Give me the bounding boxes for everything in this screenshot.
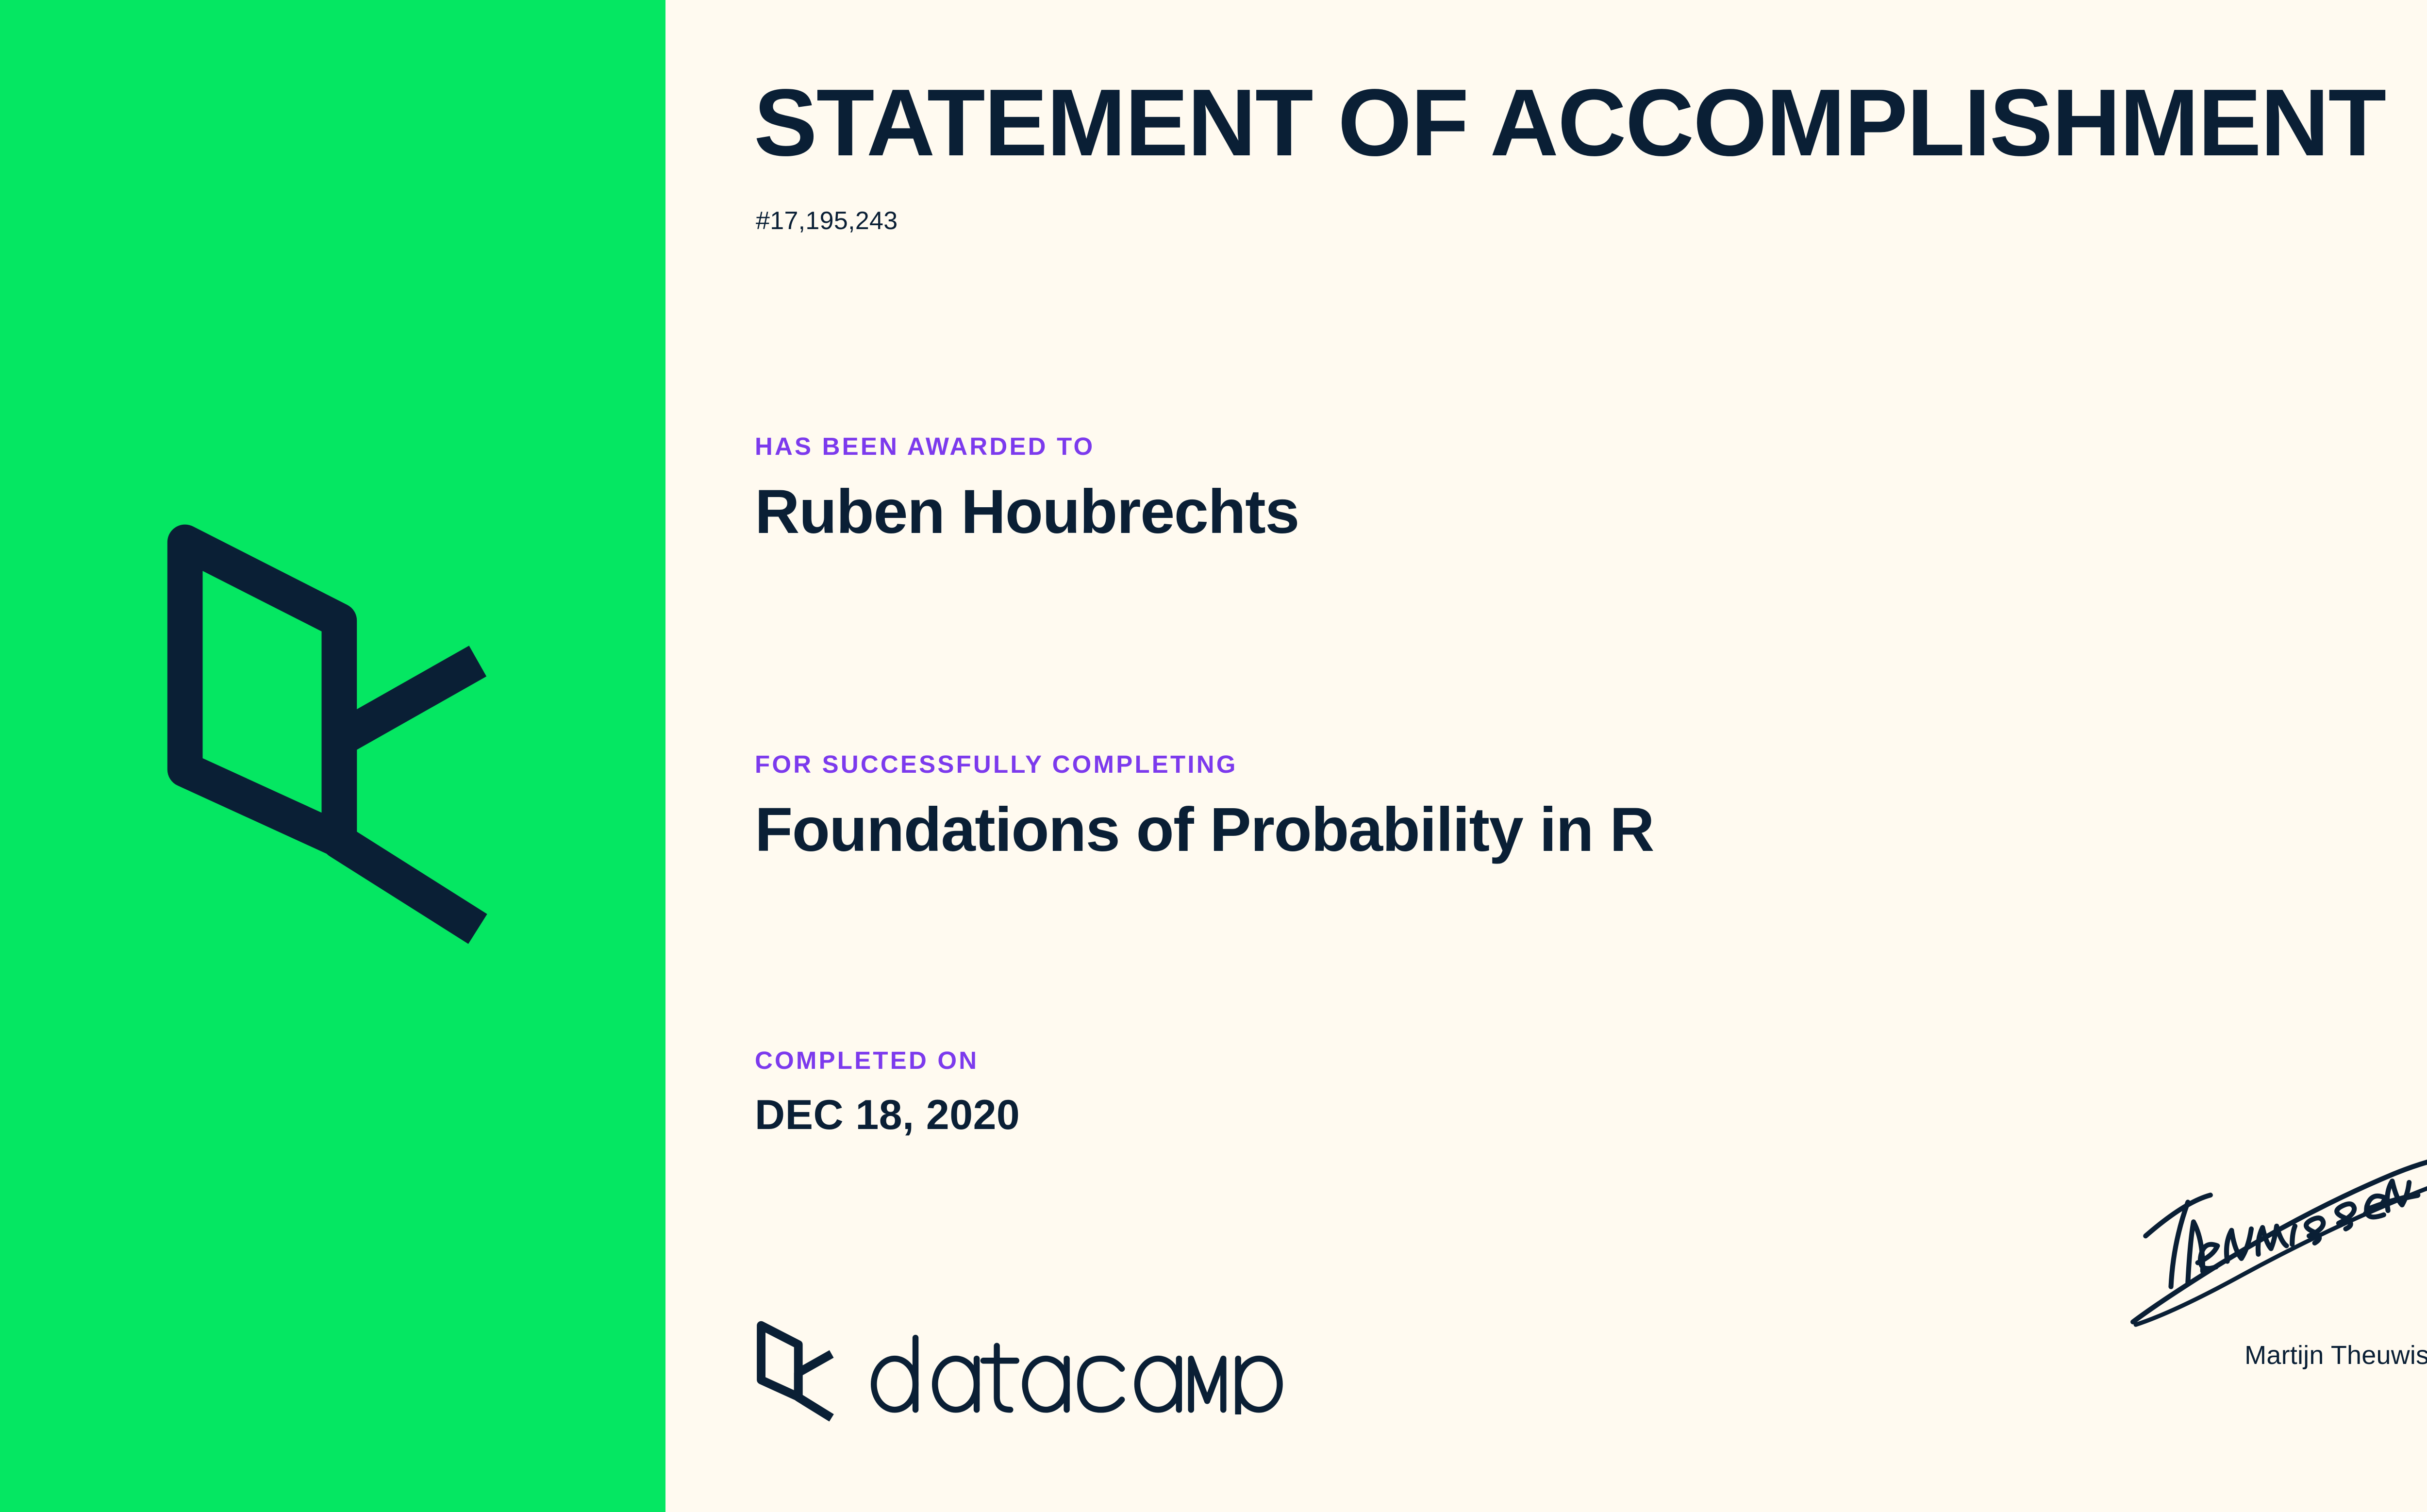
completion-date-section: COMPLETED ON DEC 18, 2020 [755,1046,1020,1137]
handwritten-signature-icon [2120,1143,2427,1337]
brand-panel [0,0,665,1512]
content-panel: STATEMENT OF ACCOMPLISHMENT #17,195,243 … [665,0,2427,1512]
completion-date-value: DEC 18, 2020 [755,1093,1020,1137]
course-section: FOR SUCCESSFULLY COMPLETING Foundations … [755,750,1654,863]
course-label: FOR SUCCESSFULLY COMPLETING [755,750,1654,779]
datacamp-logo-icon [755,1319,838,1422]
page-title: STATEMENT OF ACCOMPLISHMENT [754,73,2385,173]
signatory-name-title: Martijn Theuwissen, CEO [2091,1340,2427,1370]
completion-date-label: COMPLETED ON [755,1046,1020,1075]
awardee-label: HAS BEEN AWARDED TO [755,432,1299,461]
course-title: Foundations of Probability in R [755,797,1654,863]
awardee-section: HAS BEEN AWARDED TO Ruben Houbrechts [755,432,1299,545]
datacamp-wordmark [863,1327,1290,1414]
signature-block: Martijn Theuwissen, CEO [2091,1143,2427,1370]
footer-brand-logo [755,1319,1290,1422]
awardee-name: Ruben Houbrechts [755,479,1299,545]
certificate: STATEMENT OF ACCOMPLISHMENT #17,195,243 … [0,0,2427,1512]
certificate-serial-number: #17,195,243 [756,206,898,235]
datacamp-logo-icon [160,515,500,951]
